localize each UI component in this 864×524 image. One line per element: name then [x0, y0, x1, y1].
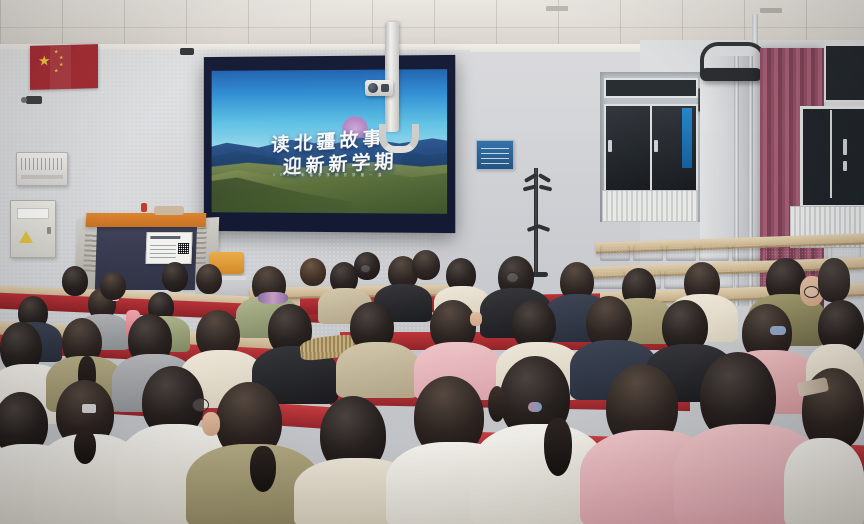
window-latch	[843, 139, 847, 155]
ponytail	[544, 418, 572, 476]
window-latch	[654, 140, 658, 152]
seat[interactable]	[666, 244, 696, 261]
far-window-upper	[824, 44, 864, 102]
ponytail	[74, 430, 96, 464]
ceiling-projector	[700, 68, 762, 81]
cabinet-label	[17, 208, 49, 219]
sign-heading-line	[150, 236, 180, 239]
podium-notice-sign	[145, 232, 192, 264]
eyeglasses	[360, 264, 371, 273]
wall-security-camera	[26, 96, 42, 104]
ceiling-vent	[546, 6, 568, 11]
lectern-top-panel	[86, 213, 207, 227]
camera-lens-icon	[368, 83, 378, 93]
flag-large-star: ★	[38, 53, 51, 67]
seat[interactable]	[732, 244, 762, 261]
hand	[470, 312, 482, 326]
hair-tie	[770, 326, 786, 335]
eyeglasses	[192, 398, 209, 412]
hair-tie	[528, 402, 542, 412]
radiator-heater	[602, 190, 698, 222]
sign-text-lines	[481, 146, 509, 164]
eyeglasses	[804, 286, 819, 298]
seat[interactable]	[592, 270, 625, 289]
panel-display	[21, 158, 63, 170]
person-head	[196, 264, 222, 294]
hair-clip	[82, 404, 96, 413]
person-head	[62, 266, 88, 296]
transom-window	[604, 78, 698, 98]
flag-sheen	[50, 45, 70, 90]
ceiling-security-camera	[180, 48, 194, 55]
person-body	[336, 342, 420, 398]
chinese-national-flag: ★ ★ ★ ★ ★	[30, 44, 98, 90]
camera-ir-panel	[381, 84, 389, 92]
screen-subtitle: 2 0 2 5 年 春 季 学 期 开 学 第 一 课	[212, 171, 447, 177]
pipe-mounted-camera	[365, 80, 393, 96]
window-latch	[843, 161, 847, 171]
seat[interactable]	[699, 244, 729, 261]
led-display: 读北疆故事 迎新新学期 2 0 2 5 年 春 季 学 期 开 学 第 一 课	[204, 55, 455, 233]
dyed-hair-strand	[258, 292, 288, 304]
seat[interactable]	[633, 244, 663, 261]
lectern-equipment	[154, 206, 184, 215]
person-head	[300, 258, 326, 286]
window-blue-reflection	[682, 108, 692, 168]
air-conditioner-control-panel	[16, 152, 68, 186]
ceiling-vent	[760, 8, 782, 13]
person-head	[818, 258, 850, 302]
window-pane-left	[604, 104, 652, 192]
ponytail	[250, 446, 276, 492]
qr-code-icon	[178, 243, 189, 254]
lecture-hall-photo: ★ ★ ★ ★ ★ 读北疆故事 迎新新学期 2 0 2 5 年 春 季 学 期 …	[0, 0, 864, 524]
seat[interactable]	[600, 244, 630, 261]
person-ear	[202, 412, 220, 436]
microphone	[141, 203, 147, 212]
eyeglasses	[506, 272, 519, 283]
duct-elbow	[379, 124, 419, 153]
person-head	[100, 272, 126, 300]
sign-body-lines	[150, 242, 177, 258]
braid	[488, 386, 506, 422]
panel-strip	[21, 175, 63, 179]
far-window-lower	[800, 106, 864, 208]
warning-triangle-icon	[19, 231, 33, 243]
ceiling-duct-pipe	[385, 22, 399, 132]
person-head	[412, 250, 440, 280]
cabinet-latch	[47, 227, 51, 234]
electrical-cabinet	[10, 200, 56, 258]
person-head	[162, 262, 188, 292]
person-body	[784, 438, 864, 524]
blue-wall-sign	[476, 140, 514, 170]
far-window-mullion	[830, 110, 832, 198]
window-latch	[608, 140, 612, 152]
